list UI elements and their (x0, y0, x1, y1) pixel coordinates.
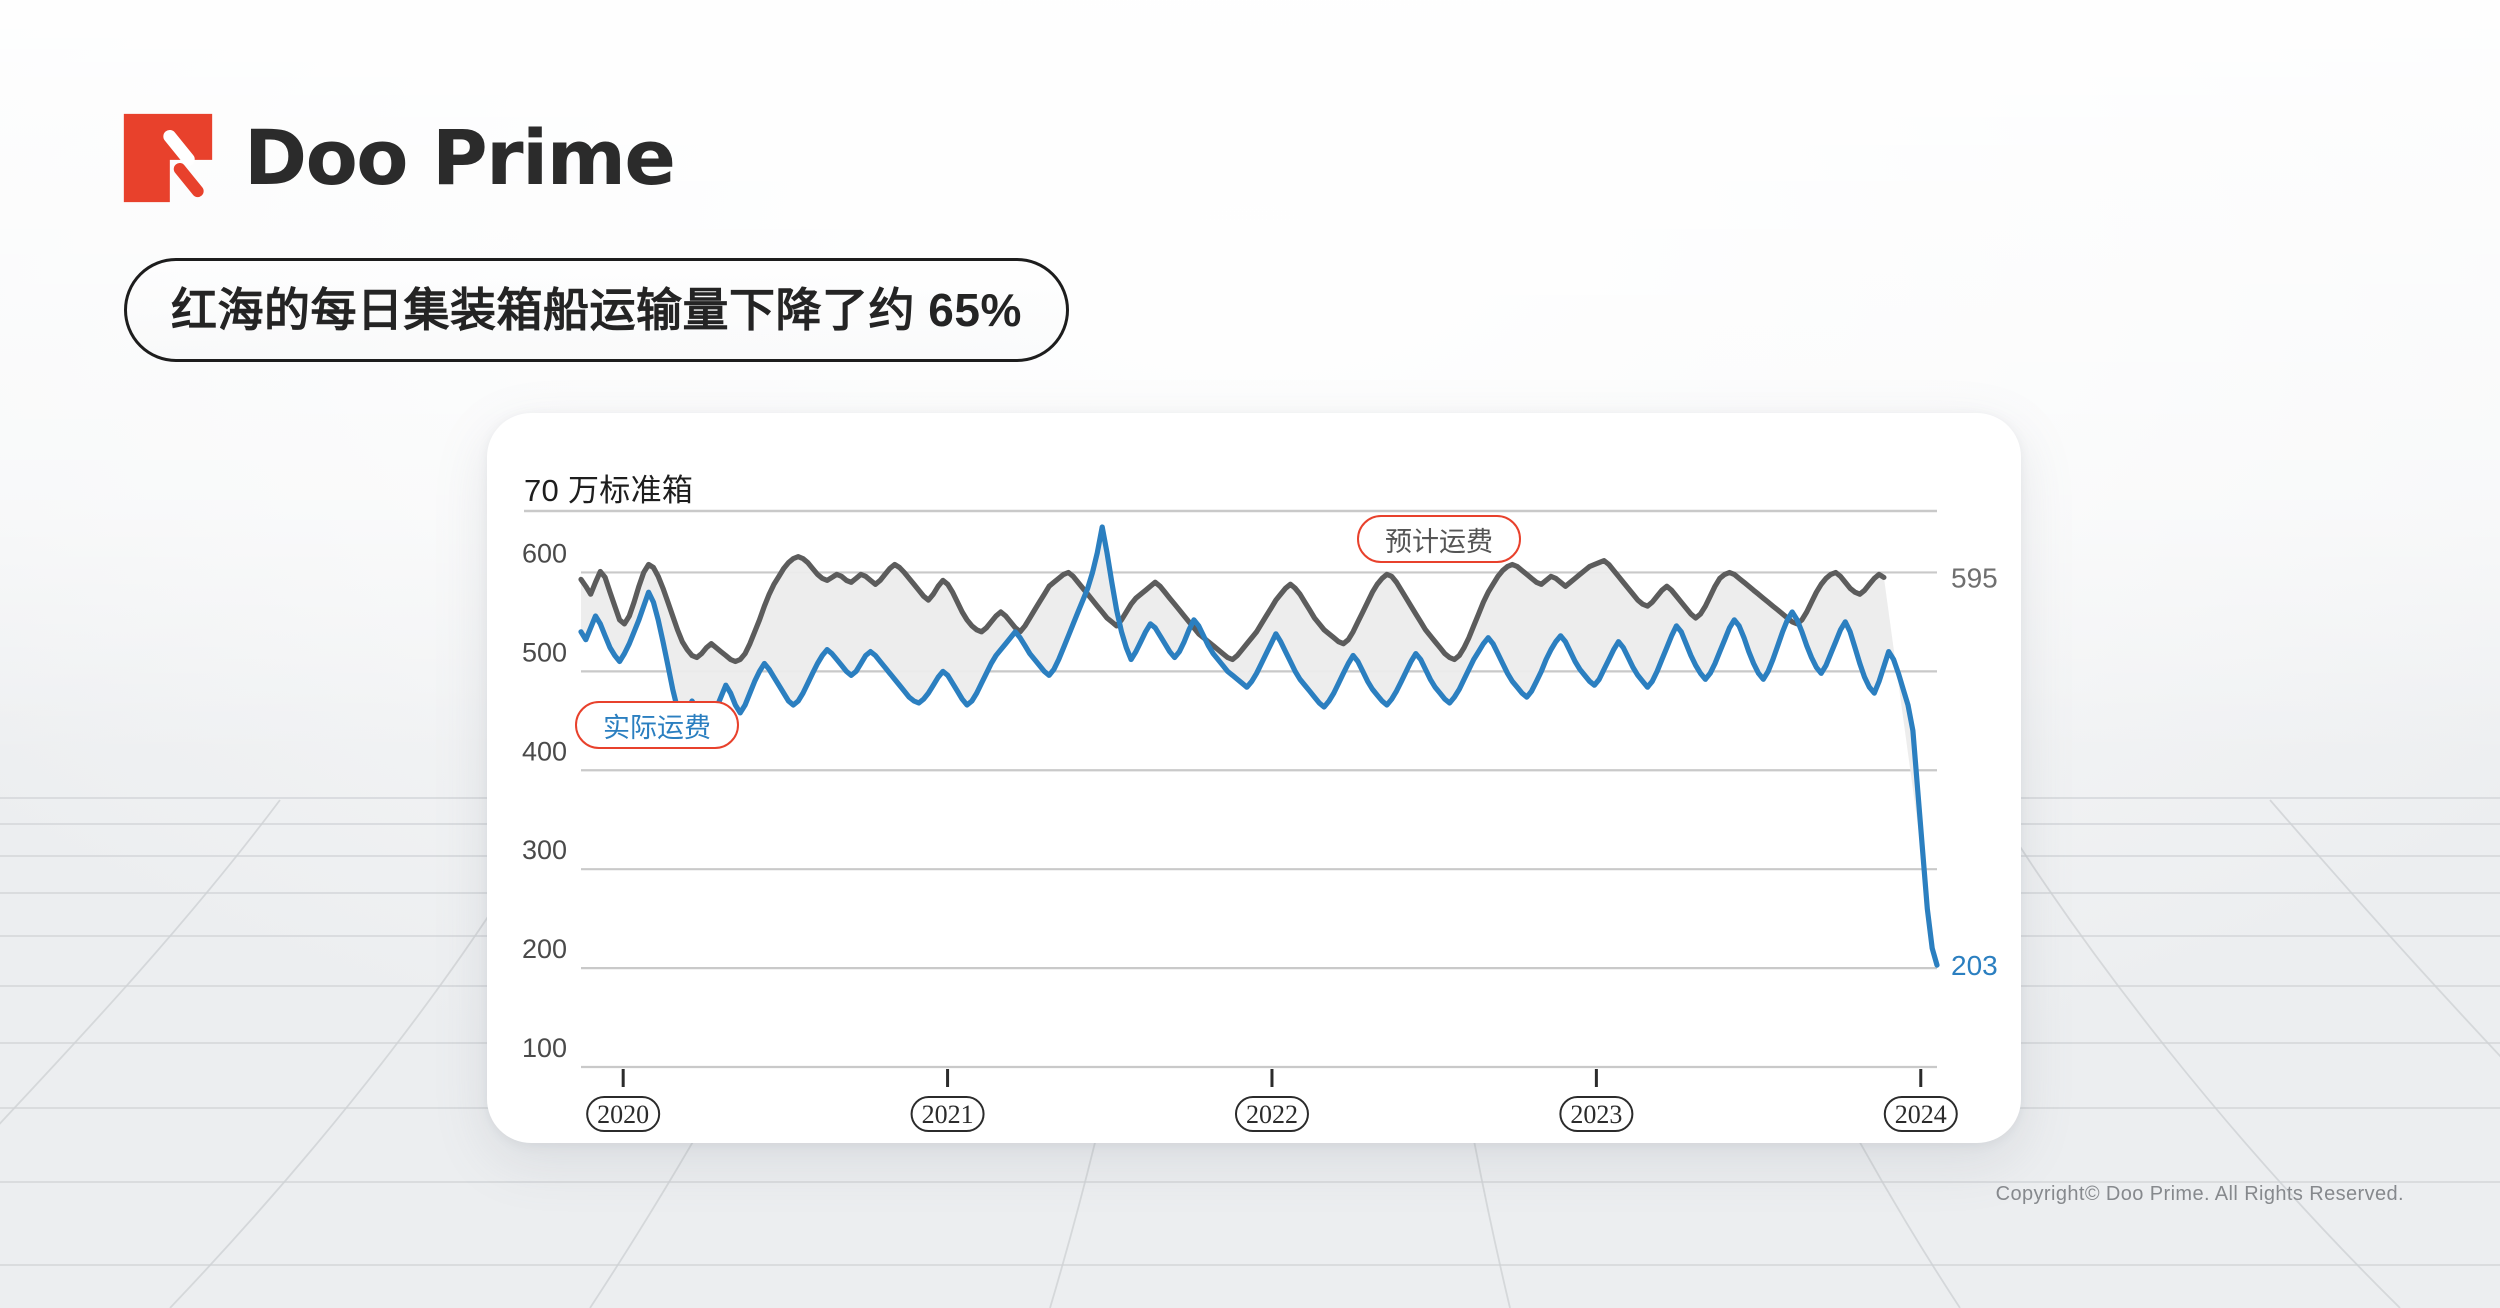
y-tick-label: 200 (522, 934, 567, 964)
chart-card: 70 万标准箱 100200300400500600 595203 202020… (487, 413, 2021, 1143)
y-tick-label: 400 (522, 736, 567, 766)
x-axis-year-pills: 20202021202220232024 (587, 1097, 1957, 1131)
y-tick-label: 300 (522, 835, 567, 865)
y-tick-label: 600 (522, 538, 567, 568)
headline-pill: 红海的每日集装箱船运输量下降了约 65% (124, 258, 1069, 362)
footer-copyright: Copyright© Doo Prime. All Rights Reserve… (1996, 1183, 2404, 1206)
brand-logo: Doo Prime (122, 112, 674, 204)
brand-wordmark: Doo Prime (244, 120, 674, 196)
headline-text: 红海的每日集装箱船运输量下降了约 65% (171, 287, 1022, 333)
x-tick-label: 2022 (1246, 1100, 1298, 1129)
x-axis-ticks (623, 1069, 1921, 1087)
slide-canvas: Doo Prime 红海的每日集装箱船运输量下降了约 65% 70 万标准箱 1… (0, 0, 2500, 1308)
series-end-labels: 595203 (1951, 562, 1998, 981)
x-tick-label: 2024 (1895, 1100, 1947, 1129)
y-tick-label: 500 (522, 637, 567, 667)
y-tick-label: 100 (522, 1033, 567, 1063)
x-tick-label: 2023 (1570, 1100, 1622, 1129)
legend-forecast[interactable]: 预计运费 (1357, 515, 1521, 563)
actual-end-value: 203 (1951, 950, 1998, 981)
series-gap-band (581, 527, 1937, 965)
gap-band (581, 527, 1937, 965)
forecast-end-value: 595 (1951, 562, 1998, 593)
x-tick-label: 2021 (922, 1100, 974, 1129)
y-axis-tick-labels: 100200300400500600 (522, 538, 567, 1063)
line-chart: 100200300400500600 595203 20202021202220… (487, 413, 2021, 1143)
doo-prime-mark-icon (122, 112, 214, 204)
legend-actual[interactable]: 实际运费 (575, 701, 739, 749)
x-tick-label: 2020 (597, 1100, 649, 1129)
